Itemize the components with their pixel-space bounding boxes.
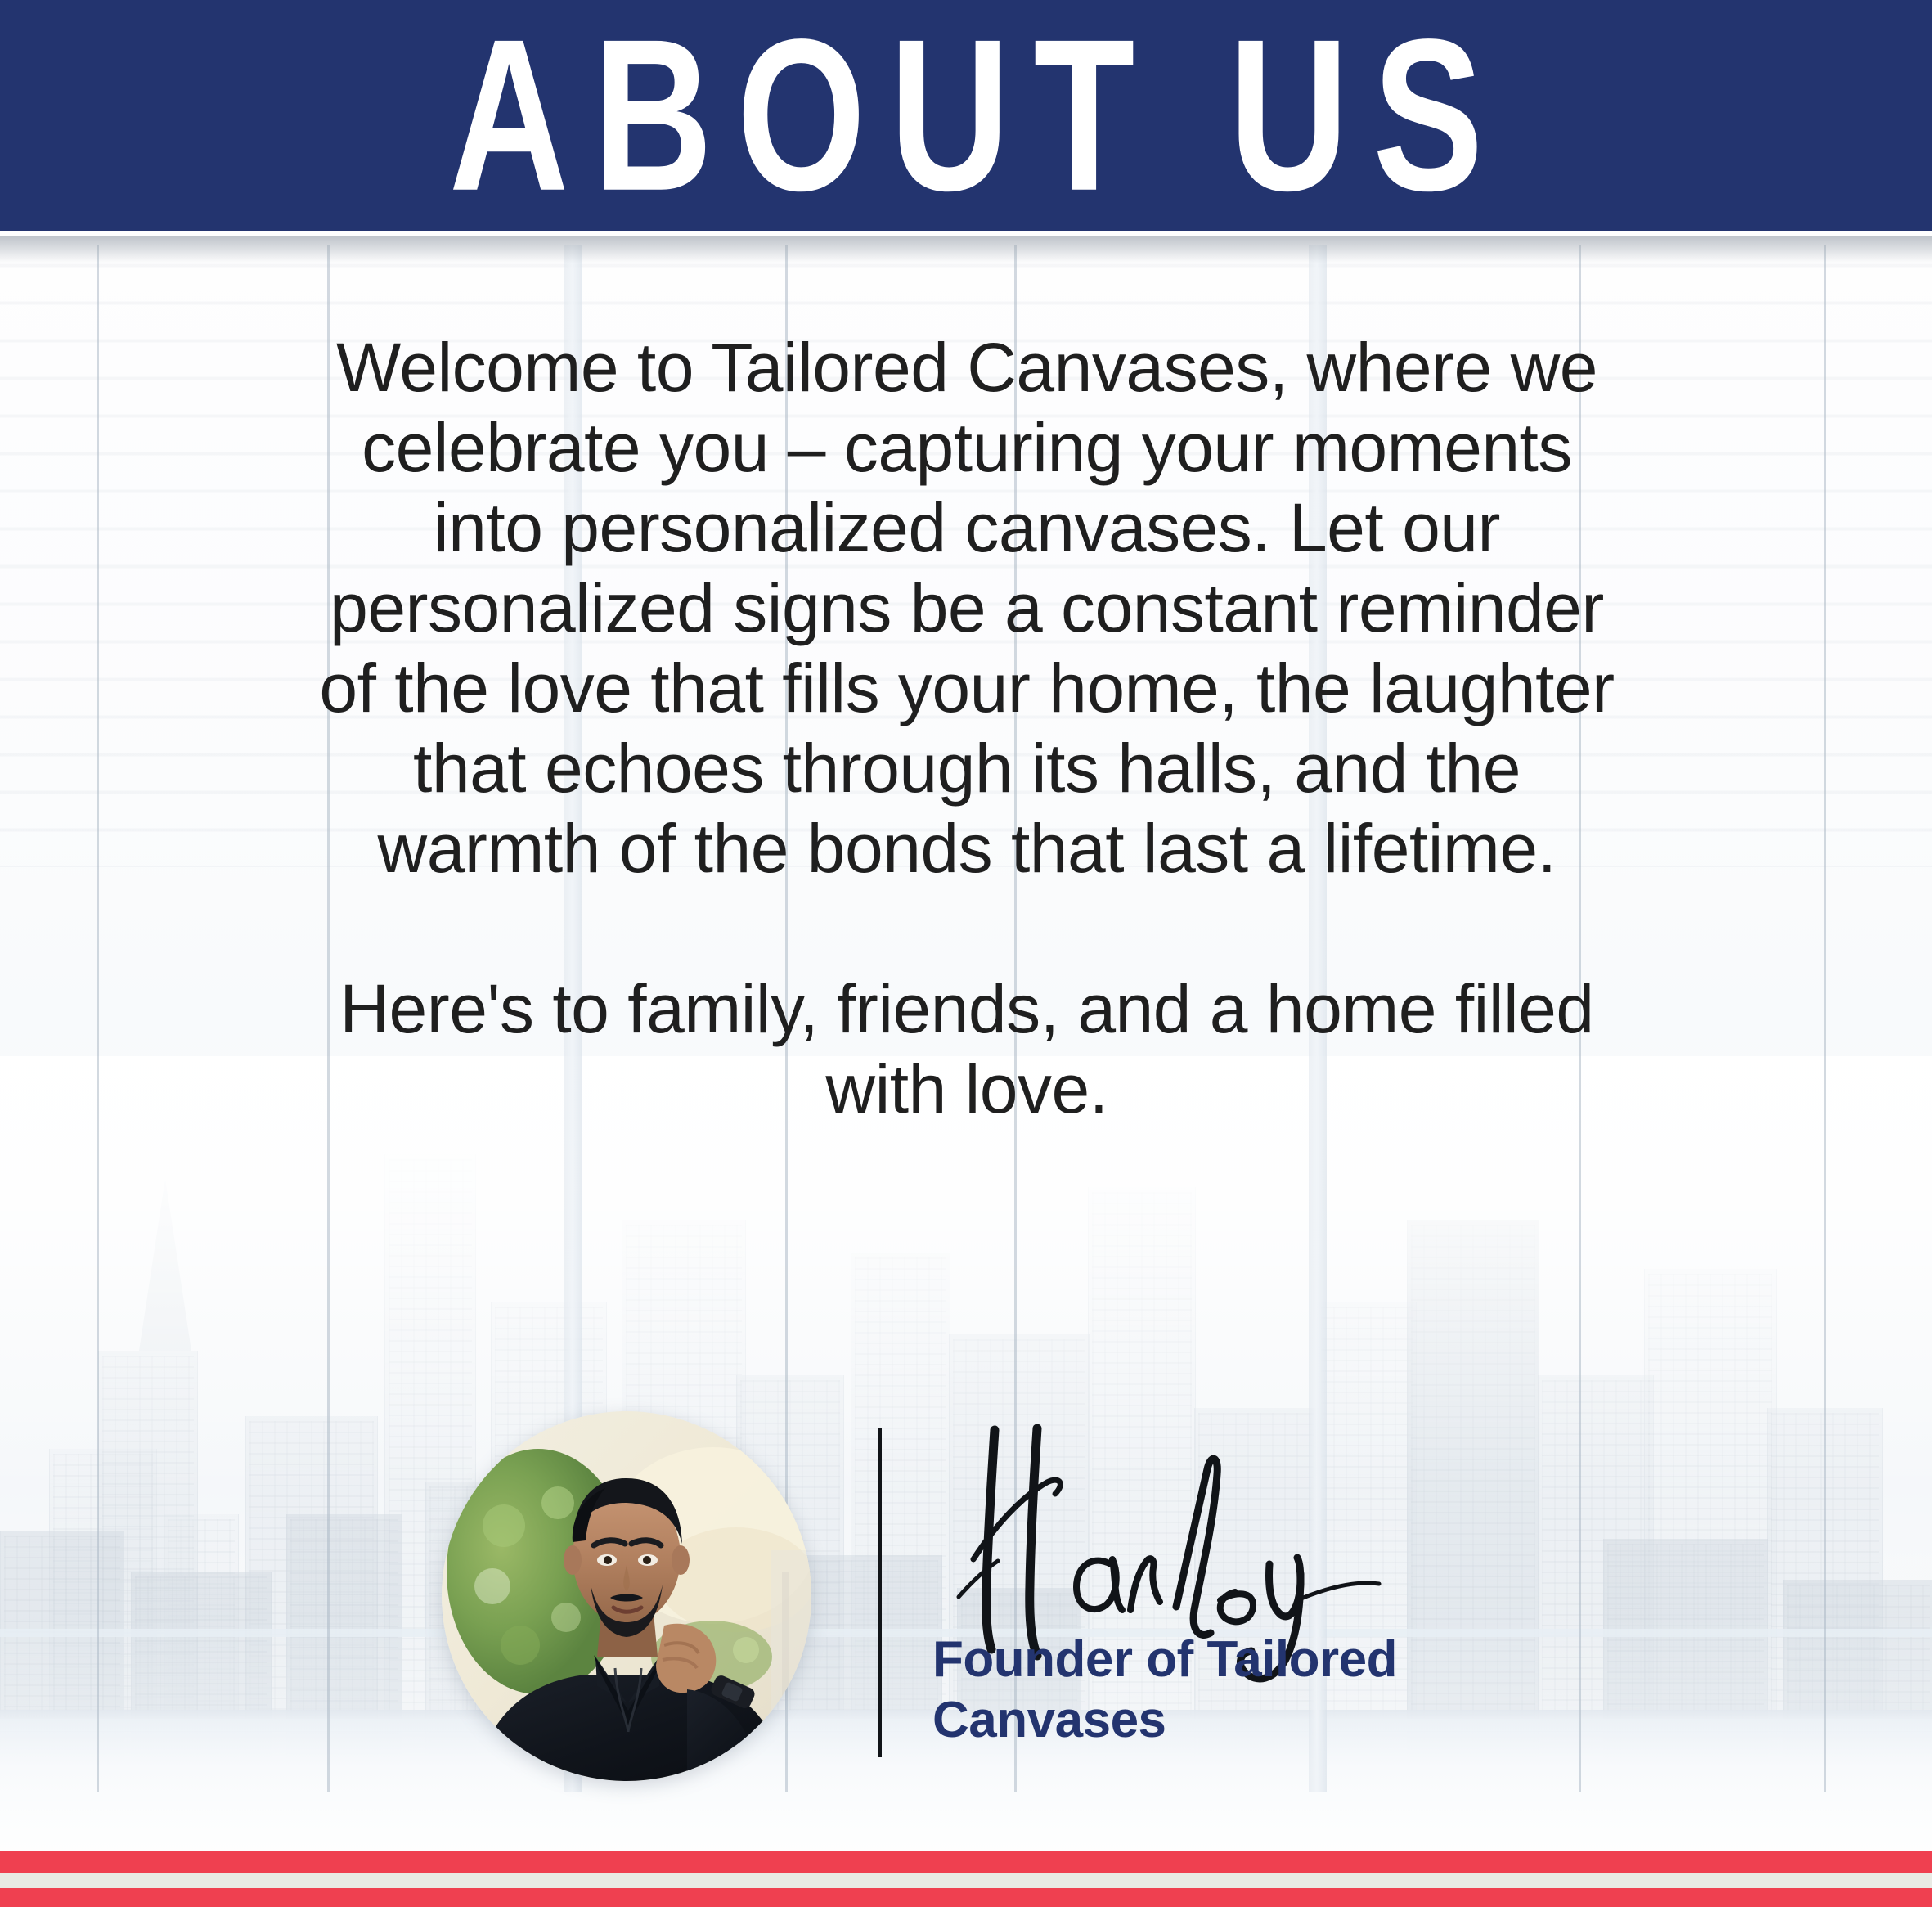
body-line: of the love that fills your home, the la… [227, 648, 1706, 728]
about-us-graphic: ABOUT US Welcome to Tailored Canvases, w… [0, 0, 1932, 1907]
about-us-body-copy: Welcome to Tailored Canvases, where we c… [227, 327, 1706, 1129]
body-line: warmth of the bonds that last a lifetime… [227, 808, 1706, 888]
body-line: celebrate you – capturing your moments [227, 407, 1706, 488]
page-title: ABOUT US [425, 7, 1507, 223]
footer-stripe-bottom [0, 1888, 1932, 1907]
vertical-divider [878, 1428, 882, 1757]
founder-role: Founder of Tailored Canvases [932, 1630, 1554, 1751]
header-band: ABOUT US [0, 0, 1932, 231]
founder-block: Founder of Tailored Canvases [0, 1391, 1932, 1800]
body-line: into personalized canvases. Let our [227, 488, 1706, 568]
body-line: personalized signs be a constant reminde… [227, 568, 1706, 648]
avatar [442, 1411, 811, 1781]
body-line: Welcome to Tailored Canvases, where we [227, 327, 1706, 407]
footer-stripe-top [0, 1851, 1932, 1873]
founder-role-line-1: Founder of Tailored [932, 1630, 1554, 1690]
body-line: with love. [227, 1049, 1706, 1129]
paragraph-spacer [227, 888, 1706, 969]
footer-stripe-gap [0, 1873, 1932, 1888]
header-drop-shadow [0, 236, 1932, 263]
founder-role-line-2: Canvases [932, 1690, 1554, 1751]
body-line: Here's to family, friends, and a home fi… [227, 969, 1706, 1049]
body-line: that echoes through its halls, and the [227, 728, 1706, 808]
